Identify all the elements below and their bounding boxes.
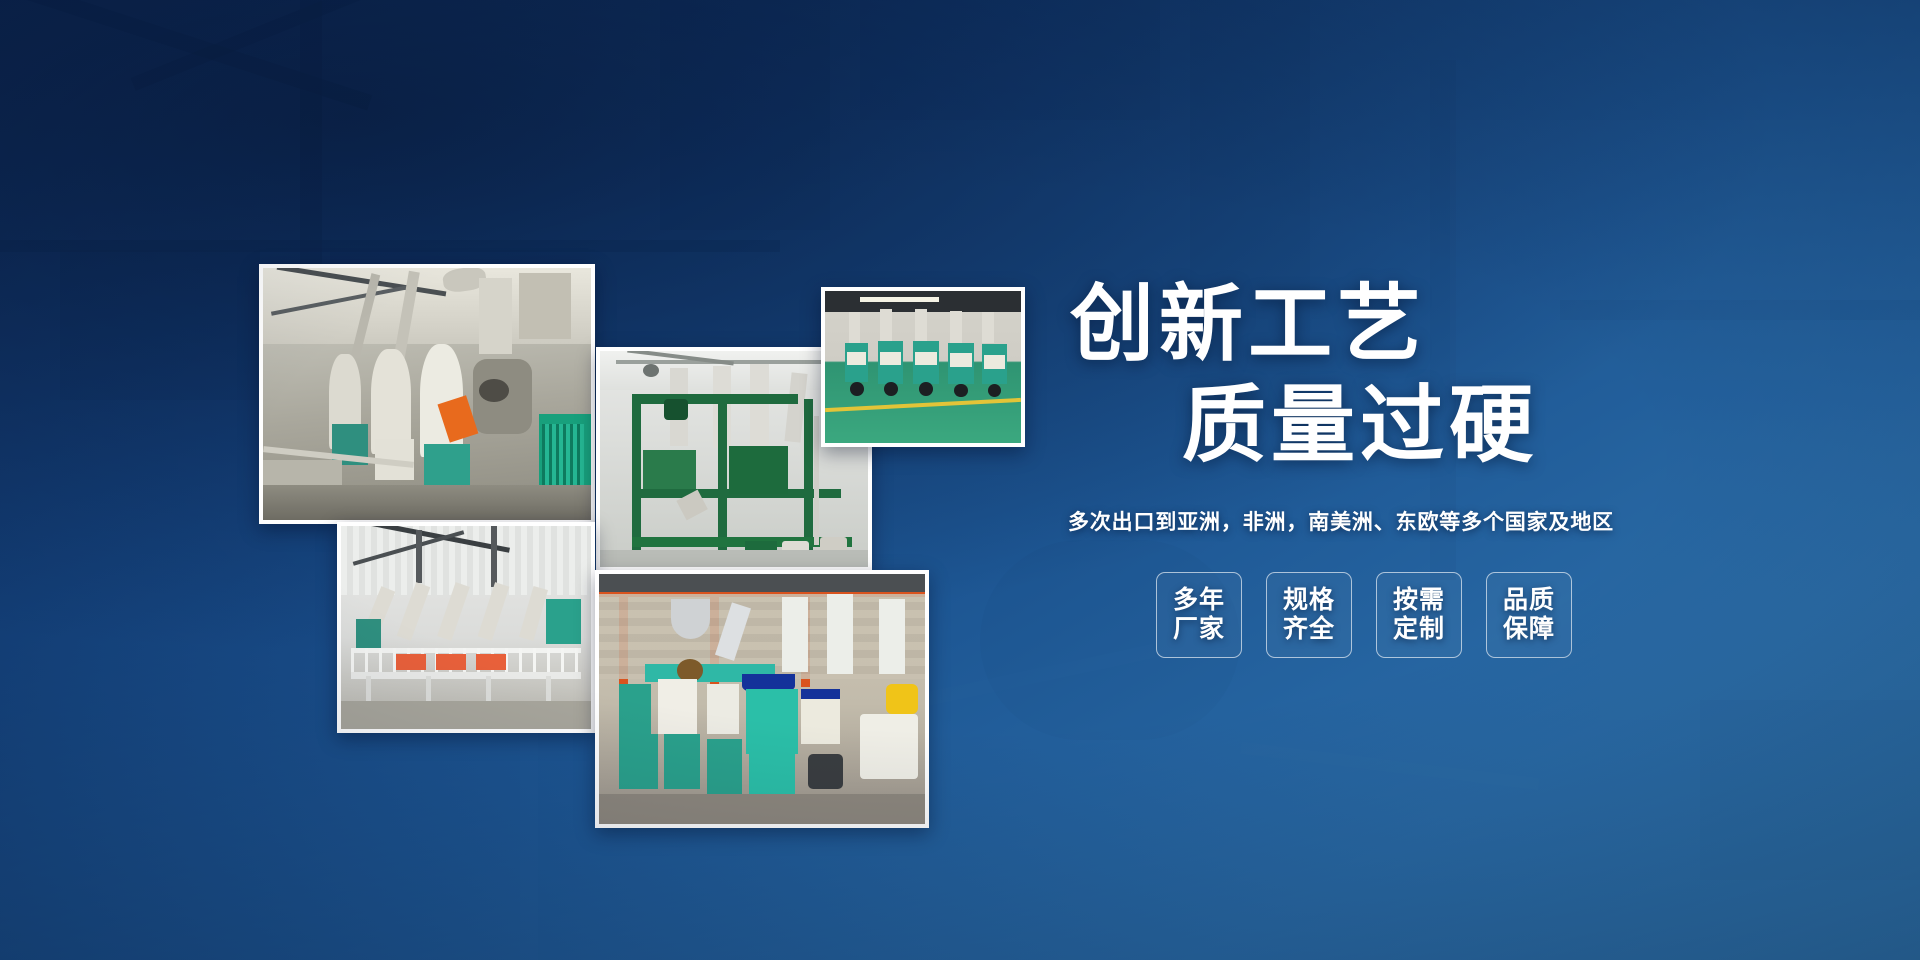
banner-vignette	[0, 0, 1920, 960]
hero-banner: 创新工艺 质量过硬 多次出口到亚洲，非洲，南美洲、东欧等多个国家及地区 多年 厂…	[0, 0, 1920, 960]
